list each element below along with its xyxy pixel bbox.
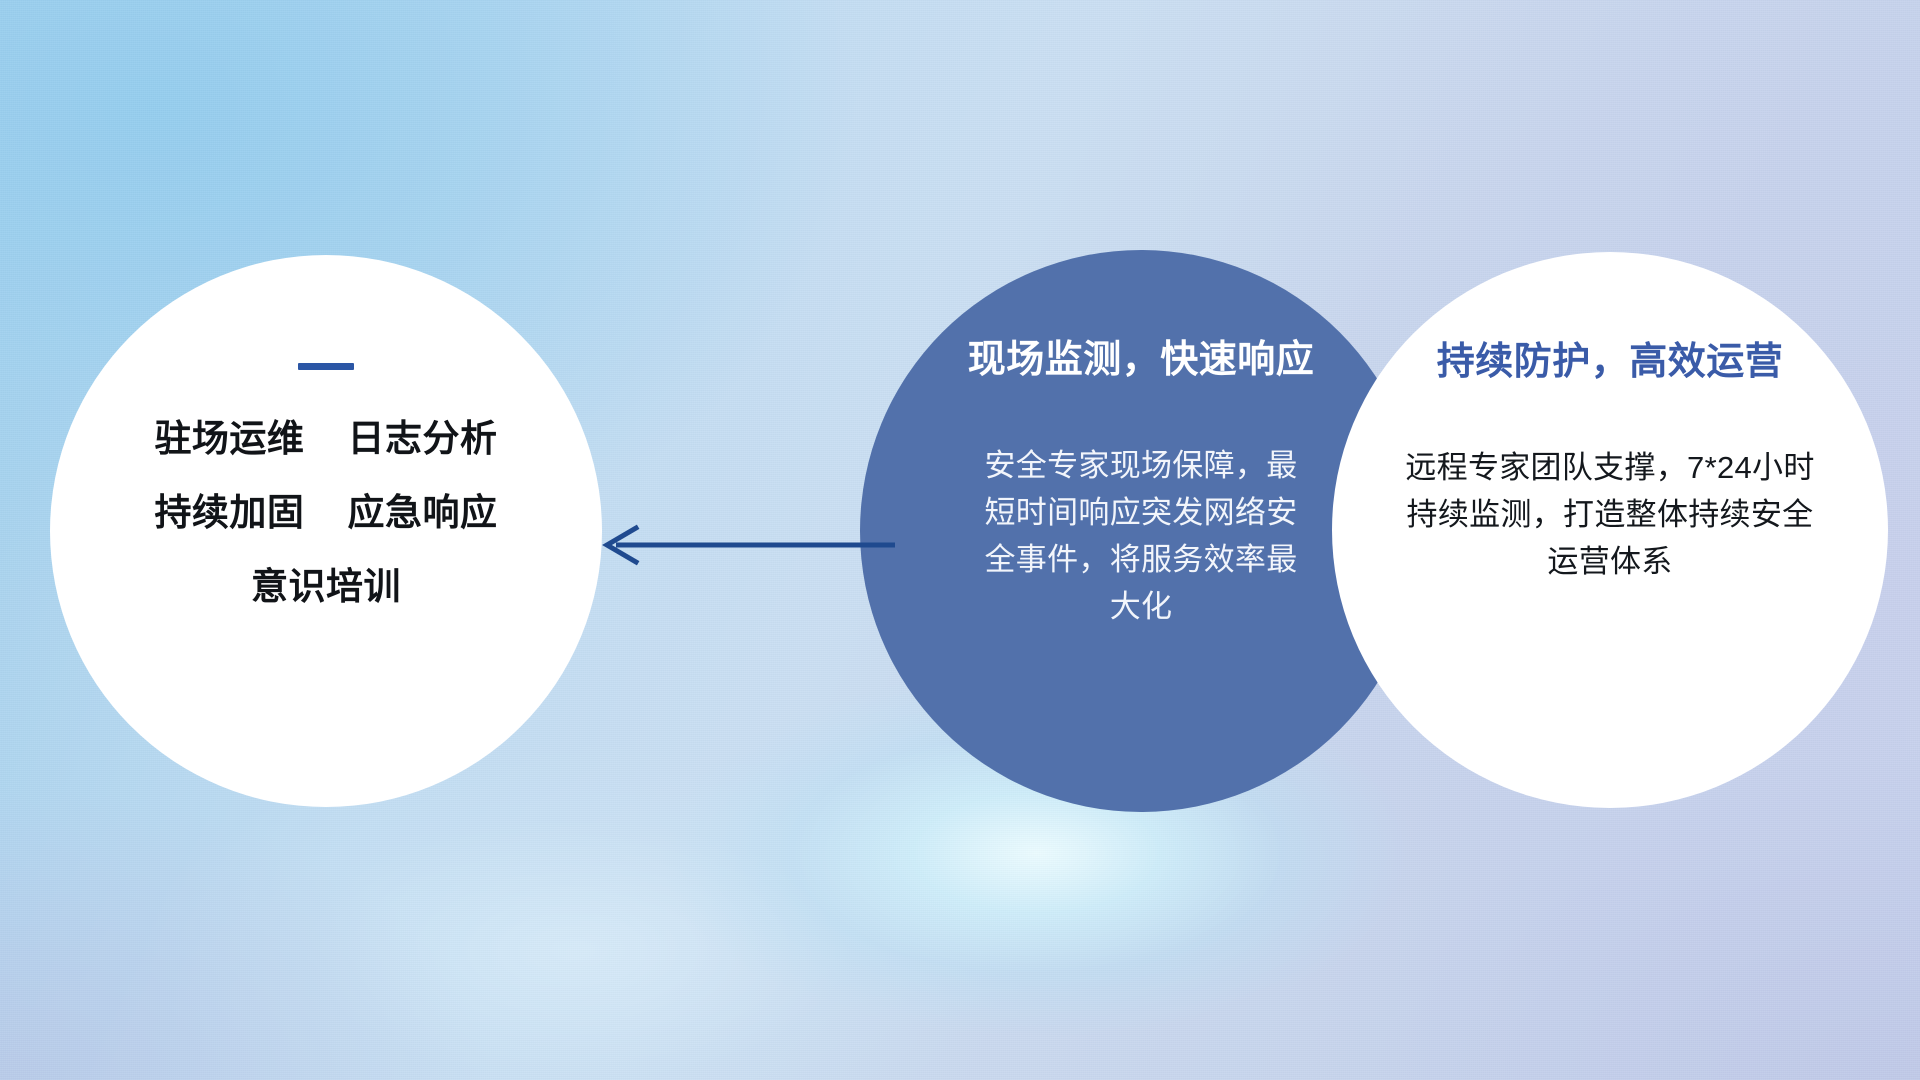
capability-line-3: 意识培训: [50, 568, 602, 605]
continuous-protection-circle: 持续防护，高效运营 远程专家团队支撑，7*24小时持续监测，打造整体持续安全运营…: [1332, 252, 1888, 808]
capability-keyword-list: 驻场运维 日志分析 持续加固 应急响应 意识培训: [50, 420, 602, 605]
flow-arrow-left-icon: [590, 505, 900, 585]
capability-line-2: 持续加固 应急响应: [50, 494, 602, 531]
slide-canvas: 驻场运维 日志分析 持续加固 应急响应 意识培训 现场监测，快速响应 安全专家现…: [0, 0, 1920, 1080]
divider-dash-icon: [298, 363, 354, 370]
onsite-monitoring-title: 现场监测，快速响应: [968, 340, 1315, 382]
onsite-monitoring-body: 安全专家现场保障，最短时间响应突发网络安全事件，将服务效率最大化: [976, 442, 1306, 630]
capability-line-1: 驻场运维 日志分析: [50, 420, 602, 457]
capability-circle-left: 驻场运维 日志分析 持续加固 应急响应 意识培训: [50, 255, 602, 807]
continuous-protection-body: 远程专家团队支撑，7*24小时持续监测，打造整体持续安全运营体系: [1405, 444, 1815, 585]
continuous-protection-title: 持续防护，高效运营: [1437, 342, 1784, 384]
